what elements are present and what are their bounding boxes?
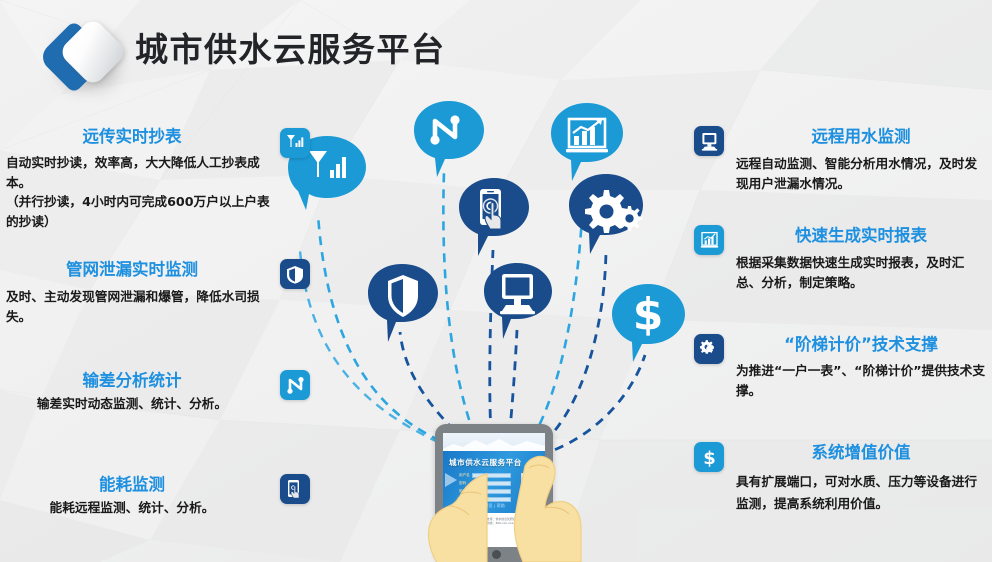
- feature-desc: 自动实时抄读，效率高，大大降低人工抄表成本。 （并行抄读，4小时内可完成600万…: [6, 153, 316, 231]
- feature-title: 远程用水监测: [690, 126, 990, 148]
- bubble-gears[interactable]: [566, 172, 646, 258]
- feature-title: 远传实时抄表: [6, 126, 316, 148]
- feature-remote-water-usage-monitoring[interactable]: 远程用水监测 远程自动监测、智能分析用水情况，及时发现用户泄漏水情况。: [690, 126, 990, 193]
- feature-title: 输差分析统计: [6, 370, 316, 392]
- svg-text:$: $: [703, 448, 716, 467]
- bar-chart-report-icon: [694, 225, 724, 255]
- feature-title: 系统增值价值: [690, 442, 990, 464]
- page-title: 城市供水云服务平台: [135, 23, 446, 71]
- svg-text:$: $: [633, 289, 664, 340]
- feature-desc: 及时、主动发现管网泄漏和爆管，降低水司损失。: [6, 287, 316, 326]
- feature-remote-meter-reading[interactable]: 远传实时抄表 自动实时抄读，效率高，大大降低人工抄表成本。 （并行抄读，4小时内…: [6, 126, 316, 231]
- feature-system-value-added[interactable]: $ 系统增值价值 具有扩展端口，可对水质、压力等设备进行监测，提高系统利用价值。: [690, 442, 990, 515]
- platform-logo: [44, 18, 134, 90]
- feature-desc: 为推进“一户一表”、“阶梯计价”提供技术支撑。: [690, 361, 990, 400]
- desktop-computer-icon: [500, 274, 535, 314]
- tablet-device[interactable]: 城市供水云服务平台 用户名 密码 验证码: [425, 424, 585, 562]
- dollar-sign-icon: $: [694, 442, 724, 472]
- phone-touch-icon: [280, 474, 310, 504]
- page-header: 城市供水云服务平台: [0, 0, 992, 100]
- dollar-sign-icon: $: [633, 289, 664, 340]
- feature-title: “阶梯计价”技术支撑: [690, 334, 990, 356]
- left-feature-column: 远传实时抄表 自动实时抄读，效率高，大大降低人工抄表成本。 （并行抄读，4小时内…: [6, 126, 316, 525]
- feature-desc: 远程自动监测、智能分析用水情况，及时发现用户泄漏水情况。: [690, 154, 990, 193]
- right-hand-pointing: [509, 452, 585, 562]
- feature-desc: 具有扩展端口，可对水质、压力等设备进行监测，提高系统利用价值。: [690, 471, 990, 515]
- signal-bars-icon: [280, 128, 310, 158]
- feature-desc: 输差实时动态监测、统计、分析。: [6, 394, 316, 414]
- feature-loss-analysis-statistics[interactable]: 输差分析统计 输差实时动态监测、统计、分析。: [6, 370, 316, 414]
- gears-icon: [694, 334, 724, 364]
- feature-title: 能耗监测: [6, 474, 316, 496]
- feature-realtime-report-generation[interactable]: 快速生成实时报表 根据采集数据快速生成实时报表，及时汇总、分析，制定策略。: [690, 225, 990, 292]
- left-hand: [425, 470, 505, 562]
- bubble-phonetouch[interactable]: [456, 176, 532, 260]
- feature-pipe-leak-monitoring[interactable]: 管网泄漏实时监测 及时、主动发现管网泄漏和爆管，降低水司损失。: [6, 259, 316, 326]
- feature-title: 管网泄漏实时监测: [6, 259, 316, 281]
- feature-tiered-pricing-support[interactable]: “阶梯计价”技术支撑 为推进“一户一表”、“阶梯计价”提供技术支撑。: [690, 334, 990, 400]
- bubble-shield[interactable]: [366, 262, 442, 346]
- bubble-linechart[interactable]: [411, 99, 487, 181]
- right-feature-column: 远程用水监测 远程自动监测、智能分析用水情况，及时发现用户泄漏水情况。 快速生成…: [690, 126, 990, 523]
- line-chart-icon: [280, 370, 310, 400]
- feature-desc: 能耗远程监测、统计、分析。: [6, 498, 316, 518]
- bubble-computer[interactable]: [482, 261, 556, 343]
- feature-title: 快速生成实时报表: [690, 225, 990, 247]
- phone-touch-icon: [480, 189, 501, 229]
- feature-energy-monitoring[interactable]: 能耗监测 能耗远程监测、统计、分析。: [6, 474, 316, 518]
- shield-icon: [280, 259, 310, 289]
- bubble-dollar[interactable]: $: [610, 282, 688, 366]
- desktop-computer-icon: [694, 126, 724, 156]
- feature-desc: 根据采集数据快速生成实时报表，及时汇总、分析，制定策略。: [690, 253, 990, 292]
